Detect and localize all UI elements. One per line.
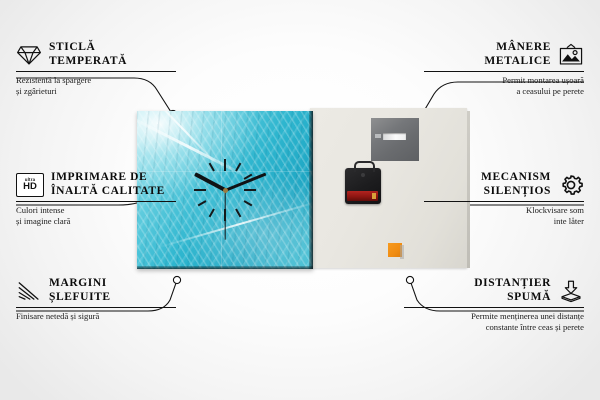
diagonal-lines-icon: [16, 279, 42, 303]
hanger-loop: [354, 161, 375, 172]
callout-desc: Finisare netedă și sigură: [16, 311, 176, 322]
clock-movement: [345, 168, 381, 204]
callout-title: MÂNERE METALICE: [484, 41, 551, 68]
callout-rule: [404, 307, 584, 308]
callout-high-quality-print: ultra HD IMPRIMARE DE ÎNALTĂ CALITATE Cu…: [16, 171, 176, 226]
hd-label: HD: [23, 182, 37, 192]
ultra-hd-icon: ultra HD: [16, 173, 44, 197]
press-down-icon: [558, 279, 584, 303]
callout-rule: [16, 307, 176, 308]
clock-hub: [223, 188, 228, 193]
callout-polished-edges: MARGINI ȘLEFUITE Finisare netedă și sigu…: [16, 277, 176, 322]
callout-rule: [424, 71, 584, 72]
metal-hanger-plate: [371, 118, 419, 161]
glass-edge: [309, 111, 313, 269]
callout-silent-mechanism: MECANISM SILENȚIOS Klockvisare som inte …: [424, 171, 584, 226]
callout-desc: Rezistentă la spargere și zgârieturi: [16, 75, 176, 96]
callout-desc: Permite menținerea unei distanțe constan…: [404, 311, 584, 332]
infographic-canvas: STICLĂ TEMPERATĂ Rezistentă la spargere …: [0, 0, 600, 400]
callout-title: DISTANȚIER SPUMĂ: [474, 277, 551, 304]
foam-spacer-pad: [388, 243, 402, 257]
gear-icon: [558, 173, 584, 197]
diamond-icon: [16, 43, 42, 67]
callout-tempered-glass: STICLĂ TEMPERATĂ Rezistentă la spargere …: [16, 41, 176, 96]
callout-desc: Klockvisare som inte låter: [424, 205, 584, 226]
callout-title: IMPRIMARE DE ÎNALTĂ CALITATE: [51, 171, 165, 198]
product-photo: [137, 108, 467, 271]
callout-rule: [16, 71, 176, 72]
hanger-slot: [383, 133, 406, 140]
picture-frame-icon: [558, 43, 584, 67]
glass-edge: [137, 266, 313, 269]
callout-desc: Permit montarea ușoară a ceasului pe per…: [424, 75, 584, 96]
movement-shaft: [361, 173, 365, 177]
callout-title: MECANISM SILENȚIOS: [481, 171, 551, 198]
callout-metal-handles: MÂNERE METALICE Permit montarea ușoară a…: [424, 41, 584, 96]
second-hand: [224, 190, 225, 240]
callout-rule: [424, 201, 584, 202]
callout-foam-spacer: DISTANȚIER SPUMĂ Permite menținerea unei…: [404, 277, 584, 332]
callout-title: MARGINI ȘLEFUITE: [49, 277, 111, 304]
callout-rule: [16, 201, 176, 202]
callout-desc: Culori intense și imagine clară: [16, 205, 176, 226]
callout-title: STICLĂ TEMPERATĂ: [49, 41, 127, 68]
battery: [347, 191, 378, 201]
